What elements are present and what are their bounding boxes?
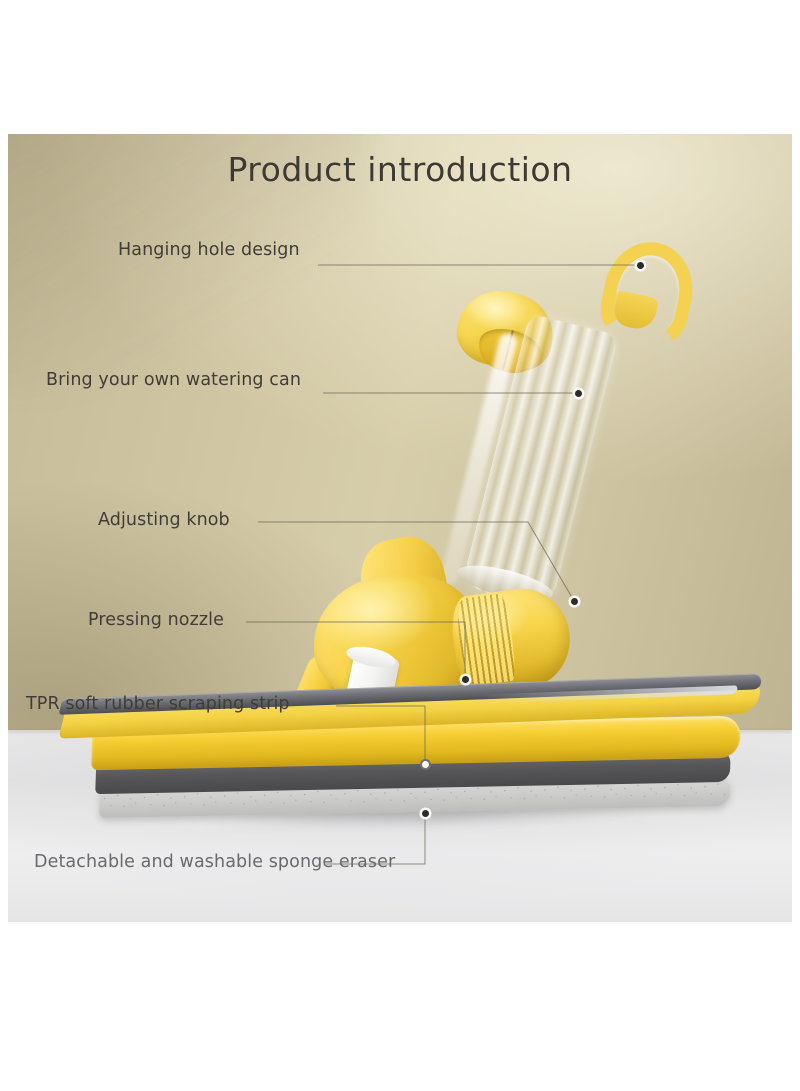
connector-dot-bring-your-own-watering-can [575, 390, 582, 397]
callout-label-bring-your-own-watering-can: Bring your own watering can [46, 370, 301, 390]
connector-dot-tpr-soft-rubber-scraping-strip [422, 761, 429, 768]
hanging-loop [594, 234, 701, 352]
callout-label-adjusting-knob: Adjusting knob [98, 510, 230, 530]
connector-dot-hanging-hole-design [637, 262, 644, 269]
infographic-page: Hanging hole designBring your own wateri… [0, 0, 800, 1091]
product-photo: Hanging hole designBring your own wateri… [8, 134, 792, 922]
callout-detachable-and-washable-sponge-eraser: Detachable and washable sponge eraser [34, 852, 395, 872]
callout-adjusting-knob: Adjusting knob [98, 510, 230, 530]
callout-label-pressing-nozzle: Pressing nozzle [88, 610, 224, 630]
callout-tpr-soft-rubber-scraping-strip: TPR soft rubber scraping strip [26, 694, 290, 714]
connector-dot-detachable-and-washable-sponge-eraser [422, 810, 429, 817]
callout-pressing-nozzle: Pressing nozzle [88, 610, 224, 630]
page-title: Product introduction [8, 150, 792, 189]
callout-bring-your-own-watering-can: Bring your own watering can [46, 370, 301, 390]
callout-label-hanging-hole-design: Hanging hole design [118, 240, 300, 260]
callout-label-tpr-soft-rubber-scraping-strip: TPR soft rubber scraping strip [26, 694, 290, 714]
callout-hanging-hole-design: Hanging hole design [118, 240, 300, 260]
connector-dot-adjusting-knob [571, 598, 578, 605]
callout-label-detachable-and-washable-sponge-eraser: Detachable and washable sponge eraser [34, 852, 395, 872]
connector-dot-pressing-nozzle [462, 676, 469, 683]
